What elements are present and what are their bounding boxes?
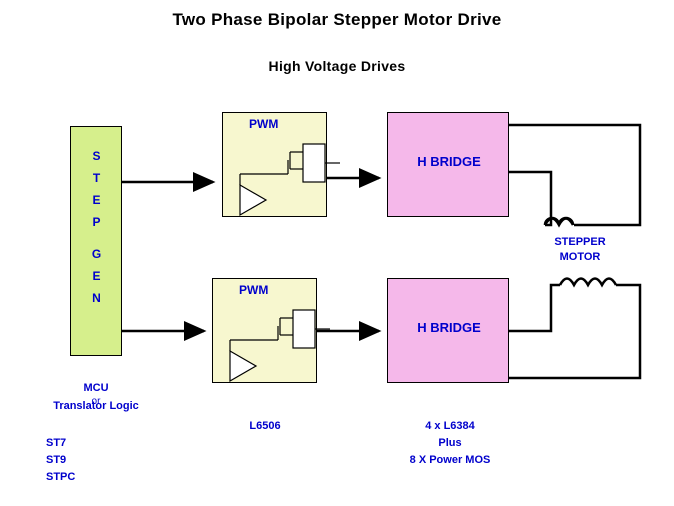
block-h-bridge-bottom-label: H BRIDGE xyxy=(388,320,510,335)
block-step-gen-label: S T E P G E N xyxy=(71,145,123,309)
motor-wiring-phase-a xyxy=(509,125,640,225)
caption-l6384: 4 x L6384 xyxy=(385,420,515,432)
page-subtitle: High Voltage Drives xyxy=(0,58,674,74)
caption-mcu: MCU xyxy=(46,382,146,394)
caption-st7: ST7 xyxy=(46,437,146,449)
caption-power-mos: 8 X Power MOS xyxy=(385,454,515,466)
caption-motor: MOTOR xyxy=(530,251,630,263)
caption-stepper: STEPPER xyxy=(530,236,630,248)
block-pwm-bottom-label: PWM xyxy=(239,283,268,297)
block-h-bridge-bottom: H BRIDGE xyxy=(387,278,509,383)
block-pwm-top-label: PWM xyxy=(249,117,278,131)
caption-l6506: L6506 xyxy=(225,420,305,432)
diagram-canvas: Two Phase Bipolar Stepper Motor Drive Hi… xyxy=(0,0,674,506)
block-h-bridge-top-label: H BRIDGE xyxy=(388,154,510,169)
caption-translator-logic: Translator Logic xyxy=(26,400,166,412)
block-step-gen: S T E P G E N xyxy=(70,126,122,356)
caption-plus: Plus xyxy=(385,437,515,449)
motor-wiring-phase-b xyxy=(509,279,640,379)
caption-stpc: STPC xyxy=(46,471,146,483)
caption-st9: ST9 xyxy=(46,454,146,466)
page-title: Two Phase Bipolar Stepper Motor Drive xyxy=(0,10,674,30)
block-h-bridge-top: H BRIDGE xyxy=(387,112,509,217)
